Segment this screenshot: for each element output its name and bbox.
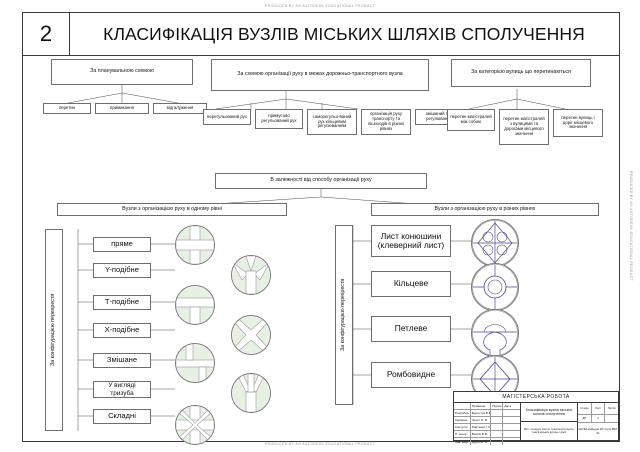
cell-name: Бересток В.В. [471, 410, 491, 416]
pictogram-y-crossing [231, 255, 271, 295]
group-traffic-item-0: нерегульований рух [203, 109, 251, 125]
drawing-stage-note: Міст, споруди, мости, транспортні вузли,… [521, 422, 577, 440]
cell-role: Зав. каф. [454, 438, 471, 444]
meta-sheet-label: Лист [592, 403, 606, 414]
col-name: Прізвище [471, 403, 491, 409]
multi-level-axis-label: За конфігурацією перехрестя [335, 225, 353, 405]
branch-multi-level-heading: Вузли з організацією руху в різних рівня… [371, 203, 599, 216]
middle-heading: В залежності від способу організації рух… [215, 173, 427, 189]
branch-same-level-heading: Вузли з організацією руху в одному рівні [57, 203, 287, 216]
table-header-row: Прізвище Підпис Дата [454, 403, 520, 410]
meta-sheets-value [605, 415, 618, 422]
drawing-name: Класифікація вузлів міських шляхів сполу… [521, 403, 577, 422]
pictogram-straight-crossing [175, 225, 215, 265]
pictogram-ring-junction [471, 263, 519, 311]
same-level-item-0: пряме [93, 237, 151, 252]
cell-sign [491, 438, 503, 444]
meta-stage-value: ДП [578, 415, 592, 422]
pictogram-complex-crossing [175, 405, 215, 445]
title-block-heading: МАГІСТЕРСЬКА РОБОТА [454, 392, 618, 403]
title-block-drawing-name-area: Класифікація вузлів міських шляхів сполу… [521, 403, 578, 440]
pictogram-mixed-crossing [175, 343, 215, 383]
pictogram-t-crossing [175, 285, 215, 325]
meta-sheet-value: 2 [592, 415, 606, 422]
group-traffic-item-2: саморегульо-ваний рух кільцевим регулюва… [307, 109, 357, 135]
meta-stage-label: Стадія [578, 403, 592, 414]
cell-date [503, 431, 520, 437]
multi-level-item-0: Лист конюшини (клеверний лист) [371, 225, 451, 257]
pictogram-trident-crossing [231, 373, 271, 413]
cell-date [503, 410, 520, 416]
watermark-right: PRODUCED BY AN AUTODESK EDUCATIONAL PROD… [629, 171, 633, 281]
group-traffic-item-1: примусово регульований рух [255, 109, 303, 129]
multi-level-item-1: Кільцеве [371, 271, 451, 297]
drawing-frame: 2 КЛАСИФІКАЦІЯ ВУЗЛІВ МІСЬКИХ ШЛЯХІВ СПО… [22, 12, 620, 442]
watermark-bottom: PRODUCED BY AN AUTODESK EDUCATIONAL PROD… [265, 442, 375, 446]
group-planning-item-0: перетин [43, 103, 91, 114]
group-category-heading: За категорією вулиць що перетинаються [451, 59, 591, 87]
drawing-sheet: PRODUCED BY AN AUTODESK EDUCATIONAL PROD… [0, 0, 640, 452]
cell-name: Дудін М. В. [471, 438, 491, 444]
group-traffic-heading: За схемою організації руху в межах дорож… [211, 59, 429, 91]
pictogram-cloverleaf [471, 219, 519, 267]
cell-role: Консульт. [454, 424, 471, 430]
cell-sign [491, 424, 503, 430]
pictogram-loop-junction [471, 309, 519, 357]
multi-level-item-3: Ромбовидне [371, 362, 451, 388]
cell-sign [491, 410, 503, 416]
watermark-top: PRODUCED BY AN AUTODESK EDUCATIONAL PROD… [265, 4, 375, 8]
cell-sign [491, 431, 503, 437]
group-planning-item-2: відгалуження [153, 103, 207, 114]
multi-level-item-2: Петлеве [371, 316, 451, 342]
group-category-item-2: перетин вулиць і доріг місцевого значенн… [553, 109, 603, 137]
cell-name: Чечет О. В. [471, 417, 491, 423]
page-number: 2 [23, 13, 70, 56]
sheet-note: КНУБА кафедра МТ група МБГ 51 [578, 423, 618, 440]
title-block: МАГІСТЕРСЬКА РОБОТА Прізвище Підпис Дата… [453, 391, 619, 441]
same-level-axis-label: За конфігурацією перехрестя [45, 229, 63, 431]
meta-sheets-label: Листів [605, 403, 618, 414]
cell-sign [491, 417, 503, 423]
group-category-item-1: перетин магістралей з вулицями та дорога… [499, 109, 549, 145]
cell-date [503, 438, 520, 444]
cell-date [503, 417, 520, 423]
page-title: КЛАСИФІКАЦІЯ ВУЗЛІВ МІСЬКИХ ШЛЯХІВ СПОЛУ… [69, 13, 619, 56]
cell-date [503, 424, 520, 430]
same-level-item-1: Y-подібне [93, 263, 151, 278]
same-level-item-5: У вигляді тризуба [93, 381, 151, 398]
table-row: Розробив Бересток В.В. [454, 410, 520, 417]
cell-role: Керівник [454, 417, 471, 423]
title-block-meta-area: Стадія Лист Листів ДП 2 КНУБА кафедра МТ… [578, 403, 618, 440]
table-row: Керівник Чечет О. В. [454, 417, 520, 424]
table-row: Консульт. Радченко І.С. [454, 424, 520, 431]
group-planning-heading: За планувальною схемою [51, 59, 193, 85]
group-category-item-0: перетин магістралей між собою [447, 109, 495, 131]
col-date: Дата [503, 403, 520, 409]
same-level-item-3: Х-подібне [93, 323, 151, 338]
cell-role: Розробив [454, 410, 471, 416]
cell-name: Вахрін В.В. [471, 431, 491, 437]
pictogram-x-crossing [231, 315, 271, 355]
group-planning-item-1: примикання [95, 103, 149, 114]
cell-name: Радченко І.С. [471, 424, 491, 430]
col-sign: Підпис [491, 403, 503, 409]
same-level-item-6: Складні [93, 409, 151, 424]
title-block-signature-table: Прізвище Підпис Дата Розробив Бересток В… [454, 403, 521, 440]
cell-role: Н. контр. [454, 431, 471, 437]
same-level-item-2: Т-подібне [93, 295, 151, 310]
table-row: Н. контр. Вахрін В.В. [454, 431, 520, 438]
same-level-item-4: Змішане [93, 353, 151, 368]
table-row: Зав. каф. Дудін М. В. [454, 438, 520, 444]
col-role [454, 403, 471, 409]
group-traffic-item-3: організація руху транспорту та пішоходів… [361, 109, 411, 135]
